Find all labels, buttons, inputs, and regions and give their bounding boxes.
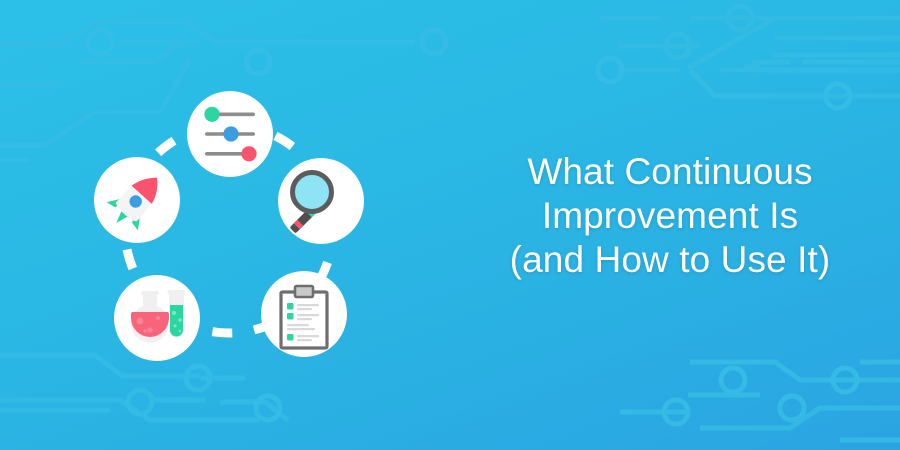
sliders-settings-icon xyxy=(204,107,256,162)
cycle-node-lab[interactable] xyxy=(114,275,200,361)
cycle-node-magnifier[interactable] xyxy=(278,158,364,244)
continuous-improvement-banner: What Continuous Improvement Is (and How … xyxy=(0,0,900,450)
cycle-node-clipboard[interactable] xyxy=(261,271,347,357)
page-title: What Continuous Improvement Is (and How … xyxy=(470,150,870,282)
clipboard-checklist-icon xyxy=(281,286,327,348)
cycle-node-sliders[interactable] xyxy=(187,91,273,177)
continuous-improvement-cycle-diagram xyxy=(55,70,425,400)
cycle-node-rocket[interactable] xyxy=(94,157,180,243)
